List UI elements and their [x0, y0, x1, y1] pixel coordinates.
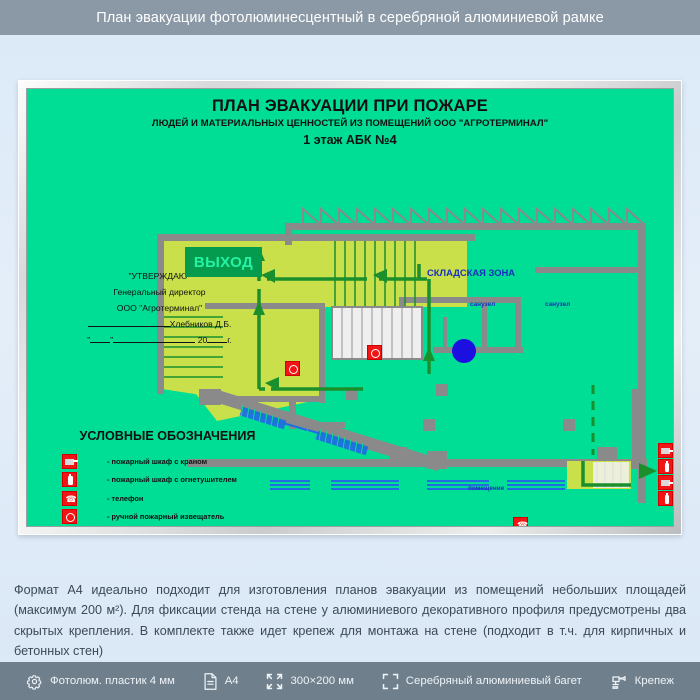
spec-material-label: Фотолюм. пластик 4 мм [50, 675, 175, 687]
expand-icon [266, 673, 283, 690]
room-label-warehouse: СКЛАДСКАЯ ЗОНА [427, 267, 515, 278]
plan-floor-number: №4 [375, 132, 397, 147]
plan-telephone-icon: ☎ [513, 517, 528, 526]
spec-size-label: 300×200 мм [290, 675, 354, 687]
spec-material: Фотолюм. пластик 4 мм [26, 673, 175, 690]
plan-fire-cabinets-group [658, 443, 673, 506]
page-header: План эвакуации фотолюминесцентный в сере… [0, 0, 700, 35]
approval-line2: Генеральный директор [77, 285, 242, 301]
approval-signature-line: Хлебников Д.Б. [77, 317, 242, 333]
wall-stub-warehouse-1 [535, 267, 639, 273]
drill-icon [610, 673, 628, 690]
wall-corridor-top [157, 234, 475, 241]
approval-date-line: "" 20г. [77, 333, 242, 349]
spec-size: 300×200 мм [266, 673, 354, 690]
wall-sanuzel-div2 [515, 317, 519, 351]
room-label-room: помещение [468, 485, 504, 492]
plan-title-line3: 1 этаж АБК №4 [27, 132, 673, 147]
page-title: План эвакуации фотолюминесцентный в сере… [96, 10, 604, 26]
plan-floor-label: 1 этаж АБК [303, 133, 375, 147]
spec-format-label: A4 [225, 675, 239, 687]
spec-frame: Серебряный алюминиевый багет [382, 673, 582, 690]
frame-icon [382, 673, 399, 690]
legend-item-telephone: ☎ - телефон [55, 489, 305, 508]
wall-sanuzel-div1 [443, 317, 447, 351]
spec-bar: Фотолюм. пластик 4 мм A4 300×200 мм Сере… [0, 662, 700, 700]
telephone-icon: ☎ [55, 491, 83, 506]
document-icon [203, 673, 218, 690]
legend-label-1: - пожарный шкаф с огнетушителем [107, 475, 237, 484]
wall-warehouse-top [285, 223, 645, 230]
spec-fasteners-label: Крепеж [635, 675, 674, 687]
wall-sanuzel-mid [482, 303, 487, 349]
wall-sanuzel-top [399, 297, 521, 303]
wall-vert-stub-a [285, 223, 292, 245]
room-label-toilet-1: санузел [470, 301, 495, 308]
plan-fire-call-point-1 [367, 345, 382, 360]
gear-icon [26, 673, 43, 690]
plan-title-line2: ЛЮДЕЙ И МАТЕРИАЛЬНЫХ ЦЕННОСТЕЙ ИЗ ПОМЕЩЕ… [27, 118, 673, 129]
fire-hose-cabinet-icon [55, 454, 83, 469]
approval-year: 20 [198, 335, 208, 345]
plan-fire-hose-cabinet-2 [658, 475, 673, 490]
plan-fire-extinguisher-cabinet-2 [658, 491, 673, 506]
spec-frame-label: Серебряный алюминиевый багет [406, 675, 582, 687]
legend-block: УСЛОВНЫЕ ОБОЗНАЧЕНИЯ - пожарный шкаф с к… [55, 429, 305, 526]
exit-sign-main: ВЫХОД [185, 247, 262, 277]
warehouse-hatch [285, 209, 645, 225]
legend-item-fire-hose-cabinet: - пожарный шкаф с краном [55, 452, 305, 471]
plan-heading: ПЛАН ЭВАКУАЦИИ ПРИ ПОЖАРЕ ЛЮДЕЙ И МАТЕРИ… [27, 97, 673, 147]
aluminium-frame: ПЛАН ЭВАКУАЦИИ ПРИ ПОЖАРЕ ЛЮДЕЙ И МАТЕРИ… [18, 80, 682, 535]
approval-block: "УТВЕРЖДАЮ" Генеральный директор ООО "Аг… [77, 269, 242, 348]
plan-fire-extinguisher-cabinet-1 [658, 459, 673, 474]
legend-label-0: - пожарный шкаф с краном [107, 457, 207, 466]
approval-line3: ООО "Агротерминал" [77, 301, 242, 317]
manual-fire-call-point-icon [55, 509, 83, 524]
reserve-route-arrowhead [639, 463, 657, 479]
product-stage: ПЛАН ЭВАКУАЦИИ ПРИ ПОЖАРЕ ЛЮДЕЙ И МАТЕРИ… [0, 35, 700, 655]
wall-diagonal-top [199, 389, 221, 405]
wall-right-inner [632, 389, 640, 469]
spec-fasteners: Крепеж [610, 673, 674, 690]
legend-item-fire-extinguisher-cabinet: - пожарный шкаф с огнетушителем [55, 471, 305, 490]
approval-name: Хлебников Д.Б. [170, 319, 232, 329]
legend-label-2: - телефон [107, 494, 143, 503]
plan-fire-hose-cabinet-1 [658, 443, 673, 458]
you-are-here-marker [452, 339, 476, 363]
wall-col-1 [423, 419, 435, 431]
legend-item-manual-call-point: - ручной пожарный извещатель [55, 508, 305, 527]
wall-col-2 [563, 419, 575, 431]
evacuation-plan-board: ПЛАН ЭВАКУАЦИИ ПРИ ПОЖАРЕ ЛЮДЕЙ И МАТЕРИ… [27, 89, 673, 526]
spec-format: A4 [203, 673, 239, 690]
legend-rows: - пожарный шкаф с краном - пожарный шкаф… [55, 452, 305, 526]
legend-label-3: - ручной пожарный извещатель [107, 512, 224, 521]
wall-col-3 [436, 384, 448, 396]
legend-title: УСЛОВНЫЕ ОБОЗНАЧЕНИЯ [55, 429, 280, 443]
approval-year-suffix: г. [227, 335, 231, 345]
plan-title-line1: ПЛАН ЭВАКУАЦИИ ПРИ ПОЖАРЕ [27, 97, 673, 116]
plan-fire-call-point-2 [285, 361, 300, 376]
exit-sign-label: ВЫХОД [194, 254, 253, 271]
wall-diagonal-corner [427, 451, 447, 469]
product-description: Формат А4 идеально подходит для изготовл… [14, 580, 686, 662]
room-label-toilet-2: санузел [545, 301, 570, 308]
fire-extinguisher-cabinet-icon [55, 472, 83, 487]
